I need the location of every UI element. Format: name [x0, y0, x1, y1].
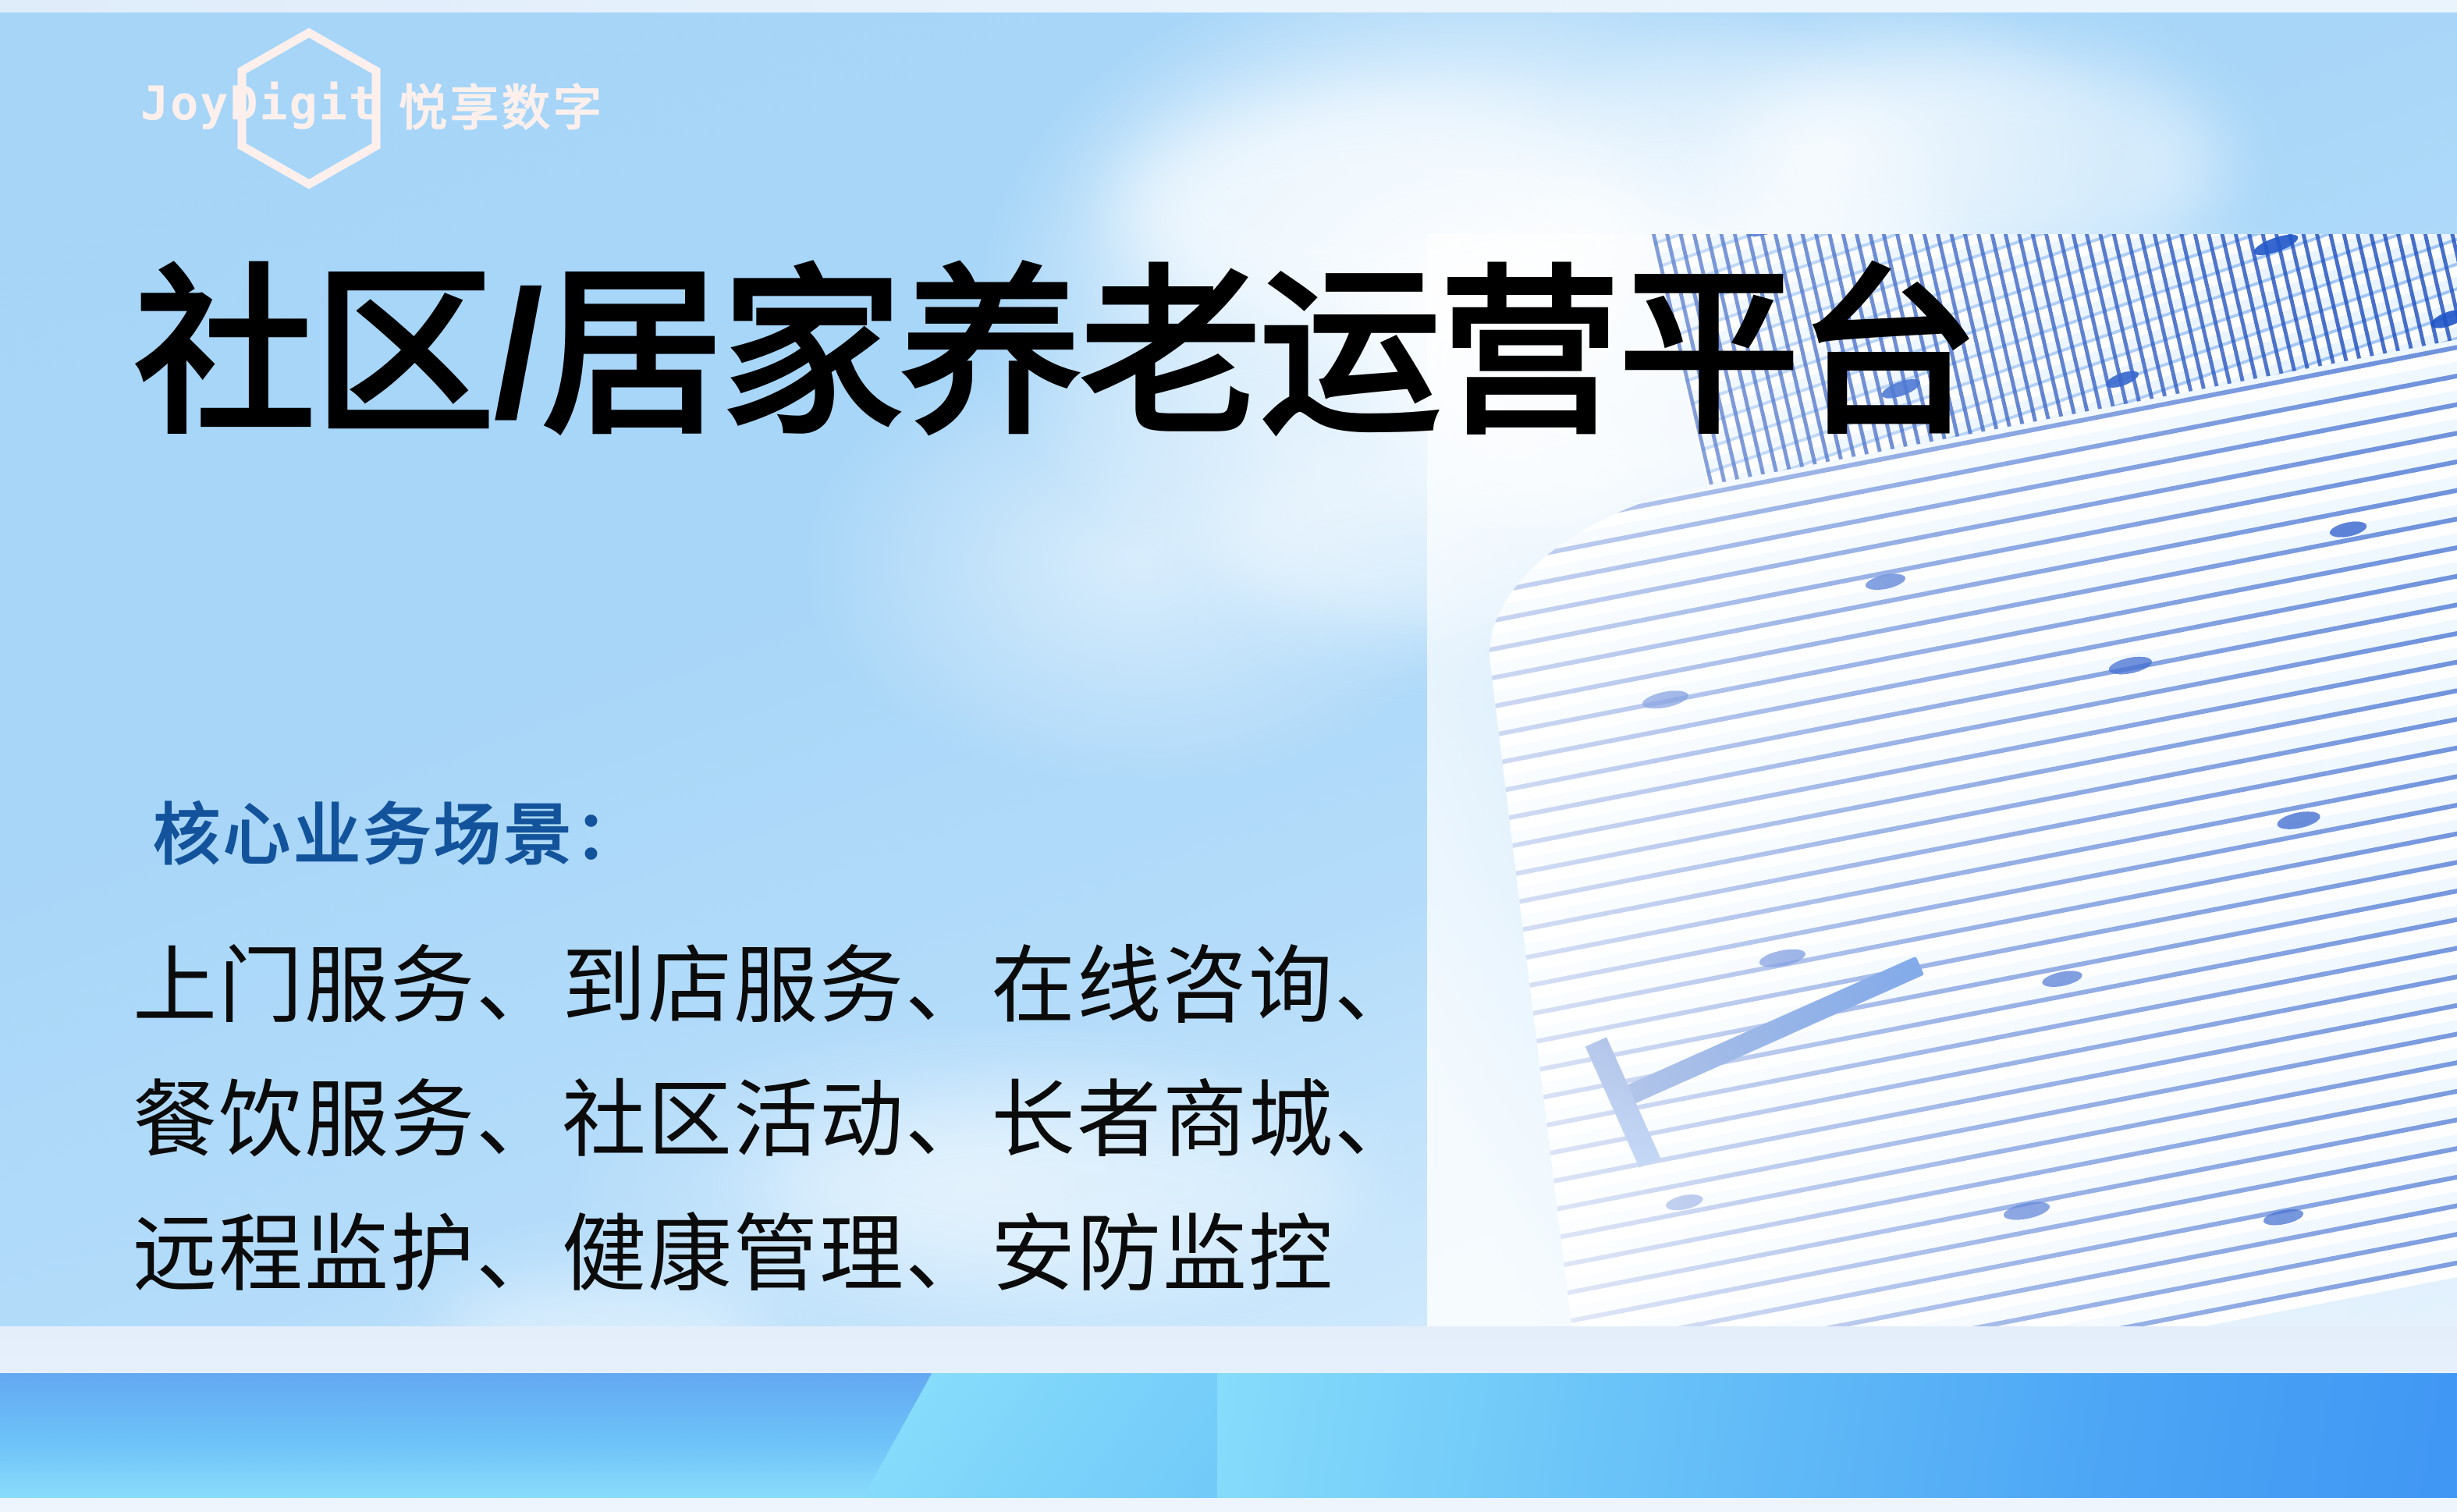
scenario-line: 远程监护、健康管理、安防监控: [133, 1187, 1420, 1322]
band-shape-right-flat: [1217, 1373, 2457, 1498]
top-edge-strip: [0, 0, 2457, 12]
band-shape-left: [0, 1373, 978, 1498]
logo-wordmark: JoyDigit: [140, 76, 378, 131]
brand-logo: JoyDigit 悦享数字: [140, 69, 605, 139]
section-label: 核心业务场景：: [153, 780, 644, 878]
bottom-decor-band: [0, 1326, 2457, 1512]
scenario-line: 上门服务、到店服务、在线咨询、: [133, 919, 1420, 1053]
page-title: 社区/居家养老运营平台: [134, 257, 1977, 453]
slide-root: JoyDigit 悦享数字 社区/居家养老运营平台 核心业务场景： 上门服务、到…: [0, 0, 2457, 1512]
logo-chinese-name: 悦享数字: [399, 69, 605, 139]
scenario-list: 上门服务、到店服务、在线咨询、 餐饮服务、社区活动、长者商城、 远程监护、健康管…: [133, 919, 1420, 1322]
building-facade-main: [1474, 328, 2457, 1373]
scenario-line: 餐饮服务、社区活动、长者商城、: [133, 1053, 1420, 1187]
